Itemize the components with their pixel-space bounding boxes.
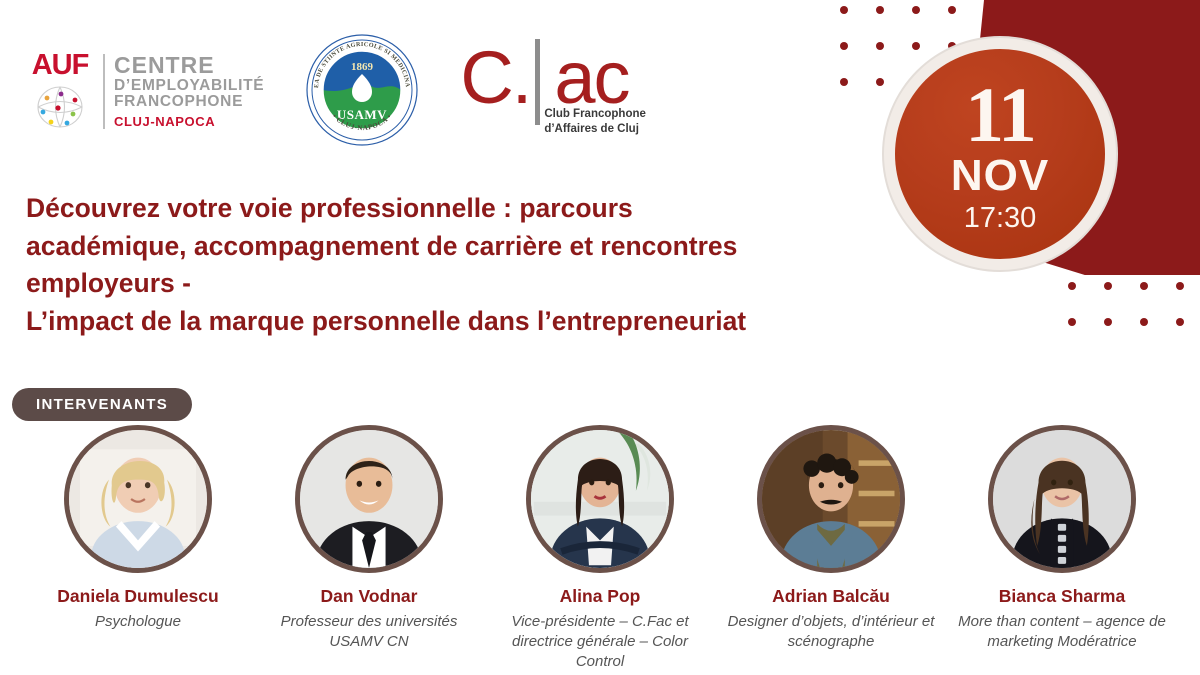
speaker-role: More than content – agence de marketing … [954, 612, 1170, 652]
logo-row: AUF CENTRE D’E [26, 34, 635, 146]
auf-line-4: CLUJ-NAPOCA [114, 115, 264, 129]
decorative-dot [1104, 318, 1112, 326]
speaker-name: Dan Vodnar [321, 586, 418, 607]
speaker-name: Bianca Sharma [999, 586, 1125, 607]
auf-line-2: D’EMPLOYABILITÉ [114, 78, 264, 95]
decorative-dot [876, 6, 884, 14]
event-title-line-3: employeurs - [26, 265, 926, 303]
decorative-dot [1104, 282, 1112, 290]
cfac-stem [535, 39, 540, 125]
usamv-logo: 1869 USAMV UNIVERSITATEA DE STIINTE AGRI… [306, 34, 418, 146]
auf-logo-text: CENTRE D’EMPLOYABILITÉ FRANCOPHONE CLUJ-… [114, 51, 264, 129]
event-title-line-4: L’impact de la marque personnelle dans l… [26, 303, 926, 341]
speaker-role: Professeur des universités USAMV CN [261, 612, 477, 652]
speaker-card: Alina Pop Vice-présidente – C.Fac et dir… [492, 425, 708, 671]
speaker-card: Bianca Sharma More than content – agence… [954, 425, 1170, 671]
decorative-dot [1140, 318, 1148, 326]
decorative-dot [840, 42, 848, 50]
speaker-photo [757, 425, 905, 573]
decorative-dot [876, 78, 884, 86]
speaker-name: Daniela Dumulescu [57, 586, 218, 607]
speaker-role: Vice-présidente – C.Fac et directrice gé… [492, 612, 708, 671]
cfac-wordmark: C.ac [460, 41, 628, 115]
decorative-dot [840, 6, 848, 14]
auf-line-1: CENTRE [114, 53, 264, 78]
event-title-line-2: académique, accompagnement de carrière e… [26, 228, 926, 266]
decorative-dot [876, 42, 884, 50]
decorative-dot [840, 78, 848, 86]
auf-divider [103, 54, 105, 129]
speaker-name: Adrian Balcău [772, 586, 890, 607]
cfac-subtitle: Club Francophone d’Affaires de Cluj [544, 107, 646, 137]
decorative-dot [948, 6, 956, 14]
decorative-dot [1068, 318, 1076, 326]
decorative-dot [1140, 282, 1148, 290]
auf-line-3: FRANCOPHONE [114, 94, 264, 111]
decorative-dot [1068, 282, 1076, 290]
decorative-dot [1176, 318, 1184, 326]
speaker-photo [526, 425, 674, 573]
svg-text:1869: 1869 [351, 61, 374, 73]
speaker-photo [988, 425, 1136, 573]
speaker-photo [64, 425, 212, 573]
event-title: Découvrez votre voie professionnelle : p… [26, 190, 926, 341]
cfac-wordmark-left: C. [460, 36, 530, 119]
speaker-card: Adrian Balcău Designer d’objets, d’intér… [723, 425, 939, 671]
date-badge-month: NOV [951, 154, 1049, 198]
speaker-role: Designer d’objets, d’intérieur et scénog… [723, 612, 939, 652]
decorative-dot [912, 6, 920, 14]
speaker-card: Daniela Dumulescu Psychologue [30, 425, 246, 671]
speaker-photo [295, 425, 443, 573]
auf-network-icon [31, 86, 89, 128]
date-badge-time: 17:30 [964, 204, 1037, 233]
auf-logo-left: AUF [26, 51, 94, 128]
auf-acronym: AUF [32, 51, 89, 80]
cfac-logo: C.ac Club Francophone d’Affaires de Cluj [460, 41, 635, 139]
dot-grid-bottom-right [1068, 282, 1198, 342]
event-title-line-1: Découvrez votre voie professionnelle : p… [26, 190, 926, 228]
speakers-row: Daniela Dumulescu Psychologue Dan Vodnar… [0, 425, 1200, 671]
auf-logo: AUF CENTRE D’E [26, 51, 264, 129]
cfac-subtitle-line-1: Club Francophone [544, 107, 646, 122]
speaker-card: Dan Vodnar Professeur des universités US… [261, 425, 477, 671]
date-badge-day: 11 [965, 76, 1035, 154]
cfac-subtitle-line-2: d’Affaires de Cluj [544, 122, 646, 137]
speakers-section-label: INTERVENANTS [12, 388, 192, 421]
date-badge-core: 11 NOV 17:30 [895, 49, 1105, 259]
speaker-role: Psychologue [95, 612, 181, 632]
decorative-dot [1176, 282, 1184, 290]
usamv-seal-icon: 1869 USAMV UNIVERSITATEA DE STIINTE AGRI… [306, 34, 418, 146]
speaker-name: Alina Pop [560, 586, 641, 607]
